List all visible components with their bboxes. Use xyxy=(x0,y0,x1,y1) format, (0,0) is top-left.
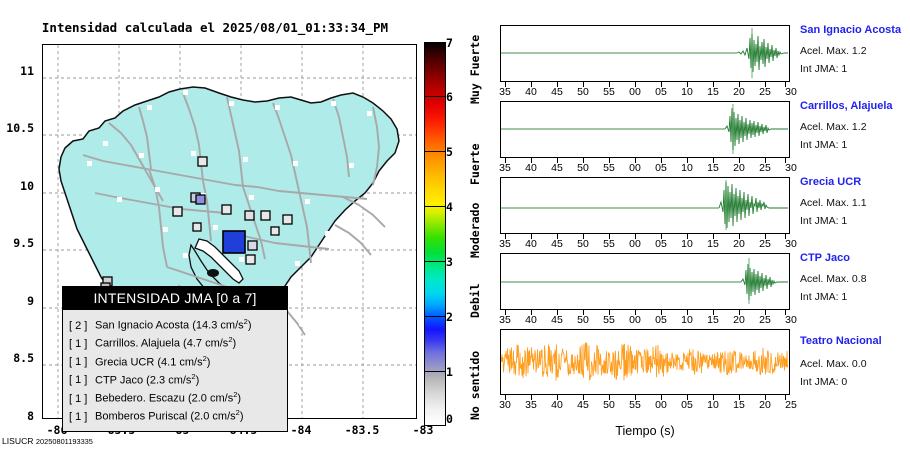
legend-unit: cm/s xyxy=(168,374,191,386)
wf-xtick: 30 xyxy=(492,399,518,411)
station-name: Grecia UCR xyxy=(800,176,861,188)
legend-count: [ 1 ] xyxy=(69,337,95,352)
station-name: CTP Jaco xyxy=(800,252,850,264)
wf-xtick: 40 xyxy=(518,238,544,250)
wf-xtick: 20 xyxy=(752,399,778,411)
wf-xtick: 55 xyxy=(596,162,622,174)
wf-xtick: 30 xyxy=(778,86,804,98)
wf-xtick: 05 xyxy=(648,314,674,326)
legend-value: 4.1 xyxy=(161,356,176,368)
station-name: Carrillos, Alajuela xyxy=(800,100,893,112)
waveform-panel-carrillos-alajuela[interactable] xyxy=(500,101,790,158)
wf-xtick: 55 xyxy=(596,238,622,250)
legend-unit: cm/s xyxy=(220,320,243,332)
legend-count: [ 1 ] xyxy=(69,410,95,425)
wf-xtick: 50 xyxy=(570,162,596,174)
wf-xtick: 10 xyxy=(674,86,700,98)
wf-xtick: 40 xyxy=(518,314,544,326)
colorbar-tickmark xyxy=(424,371,446,372)
waveform-trace xyxy=(501,102,788,156)
wf-xtick: 35 xyxy=(492,86,518,98)
wf-xtick: 10 xyxy=(700,399,726,411)
legend-station: Bebedero. Escazu xyxy=(95,393,185,405)
wf-xtick: 05 xyxy=(648,86,674,98)
wf-xtick: 35 xyxy=(492,162,518,174)
waveform-axis-5: 30 35 40 45 50 55 00 05 10 15 20 25 xyxy=(500,395,790,413)
legend-row: [ 1 ]CTP Jaco (2.3 cm/s2) xyxy=(69,370,281,388)
wf-xtick: 00 xyxy=(622,314,648,326)
map-ytick: 8 xyxy=(0,409,34,423)
map-ytick: 9.5 xyxy=(0,236,34,250)
wf-xtick: 50 xyxy=(570,314,596,326)
watermark-prefix: LISUCR xyxy=(2,436,36,446)
legend-count: [ 2 ] xyxy=(69,319,95,334)
wf-xtick: 25 xyxy=(752,162,778,174)
waveform-trace xyxy=(501,26,788,80)
wf-xtick: 15 xyxy=(700,162,726,174)
waveform-trace xyxy=(501,330,788,393)
legend-value: 2.0 xyxy=(194,411,209,423)
legend-row: [ 1 ]Bomberos Puriscal (2.0 cm/s2) xyxy=(69,406,281,424)
wf-xtick: 00 xyxy=(648,399,674,411)
colorbar-tickmark xyxy=(424,261,446,262)
colorbar-category: Fuerte xyxy=(468,143,482,185)
station-jma: Int JMA: 1 xyxy=(800,215,847,227)
legend-list: [ 2 ]San Ignacio Acosta (14.3 cm/s2) [ 1… xyxy=(63,310,287,431)
intensity-colorbar xyxy=(424,42,446,426)
legend-station: Carrillos. Alajuela xyxy=(95,338,180,350)
wf-xtick: 50 xyxy=(570,86,596,98)
wf-xtick: 20 xyxy=(726,162,752,174)
wf-xtick: 45 xyxy=(570,399,596,411)
station-name: San Ignacio Acosta xyxy=(800,24,901,36)
wf-xtick: 35 xyxy=(518,399,544,411)
station-name: Teatro Nacional xyxy=(800,335,882,347)
station-acc: Acel. Max. 1.2 xyxy=(800,45,867,57)
colorbar-category: Moderado xyxy=(468,203,482,258)
intensity-legend: INTENSIDAD JMA [0 a 7] [ 2 ]San Ignacio … xyxy=(62,286,288,432)
waveform-axis-1: 35 40 45 50 55 00 05 10 15 20 25 30 xyxy=(500,82,790,100)
map-ytick: 10.5 xyxy=(0,121,34,135)
wf-xtick: 35 xyxy=(492,238,518,250)
page-title: Intensidad calculada el 2025/08/01_01:33… xyxy=(0,20,430,35)
colorbar-tickmark xyxy=(424,151,446,152)
legend-station: San Ignacio Acosta xyxy=(95,320,189,332)
legend-station: Grecia UCR xyxy=(95,356,154,368)
colorbar-tickmark xyxy=(424,96,446,97)
wf-xtick: 00 xyxy=(622,86,648,98)
wf-xtick: 30 xyxy=(778,314,804,326)
map-ytick: 11 xyxy=(0,64,34,78)
wf-xtick: 05 xyxy=(648,238,674,250)
wf-xtick: 55 xyxy=(622,399,648,411)
wf-xtick: 55 xyxy=(596,86,622,98)
wf-xtick: 55 xyxy=(596,314,622,326)
legend-count: [ 1 ] xyxy=(69,373,95,388)
station-jma: Int JMA: 0 xyxy=(800,376,847,388)
legend-station: Bomberos Puriscal xyxy=(95,411,187,423)
legend-value: 4.7 xyxy=(187,338,202,350)
station-jma: Int JMA: 1 xyxy=(800,63,847,75)
wf-xtick: 15 xyxy=(700,314,726,326)
wf-xtick: 50 xyxy=(570,238,596,250)
waveform-trace xyxy=(501,254,788,308)
legend-count: [ 1 ] xyxy=(69,392,95,407)
legend-unit: cm/s xyxy=(205,338,228,350)
wf-xtick: 05 xyxy=(674,399,700,411)
wf-xtick: 00 xyxy=(622,238,648,250)
wf-xtick: 35 xyxy=(492,314,518,326)
colorbar-category: No sentido xyxy=(468,351,482,420)
wf-xtick: 25 xyxy=(752,314,778,326)
wf-xtick: 25 xyxy=(752,86,778,98)
station-acc: Acel. Max. 1.2 xyxy=(800,121,867,133)
watermark: LISUCR 20250801193335 xyxy=(2,436,93,446)
wf-xtick: 45 xyxy=(544,314,570,326)
waveform-axis-4: 35 40 45 50 55 00 05 10 15 20 25 30 xyxy=(500,310,790,328)
waveform-panel-san-ignacio-acosta[interactable] xyxy=(500,25,790,82)
wf-xtick: 20 xyxy=(726,238,752,250)
legend-row: [ 1 ]Carrillos. Alajuela (4.7 cm/s2) xyxy=(69,333,281,351)
wf-xtick: 15 xyxy=(726,399,752,411)
legend-value: 2.3 xyxy=(150,374,165,386)
legend-count: [ 1 ] xyxy=(69,355,95,370)
map-xtick: -83.5 xyxy=(332,423,392,437)
legend-unit: cm/s xyxy=(210,393,233,405)
x-axis-label: Tiempo (s) xyxy=(500,424,790,438)
wf-xtick: 00 xyxy=(622,162,648,174)
wf-xtick: 10 xyxy=(674,162,700,174)
wf-xtick: 45 xyxy=(544,86,570,98)
station-acc: Acel. Max. 0.0 xyxy=(800,358,867,370)
waveform-trace xyxy=(501,178,788,232)
map-ytick: 8.5 xyxy=(0,351,34,365)
map-ytick: 10 xyxy=(0,179,34,193)
waveform-panel-grecia-ucr[interactable] xyxy=(500,177,790,234)
wf-xtick: 45 xyxy=(544,162,570,174)
waveform-panel-teatro-nacional[interactable] xyxy=(500,329,790,395)
station-acc: Acel. Max. 1.1 xyxy=(800,197,867,209)
wf-xtick: 30 xyxy=(778,162,804,174)
epicenter-marker xyxy=(223,231,245,253)
colorbar-category: Muy Fuerte xyxy=(468,35,482,104)
legend-row: [ 1 ]Grecia UCR (4.1 cm/s2) xyxy=(69,352,281,370)
wf-xtick: 50 xyxy=(596,399,622,411)
wf-xtick: 10 xyxy=(674,238,700,250)
wf-xtick: 20 xyxy=(726,314,752,326)
waveform-axis-3: 35 40 45 50 55 00 05 10 15 20 25 30 xyxy=(500,234,790,252)
wf-xtick: 40 xyxy=(518,86,544,98)
colorbar-category: Debil xyxy=(468,283,482,318)
wf-xtick: 25 xyxy=(752,238,778,250)
station-acc: Acel. Max. 0.8 xyxy=(800,273,867,285)
wf-xtick: 20 xyxy=(726,86,752,98)
wf-xtick: 10 xyxy=(674,314,700,326)
wf-xtick: 25 xyxy=(778,399,804,411)
wf-xtick: 40 xyxy=(518,162,544,174)
wf-xtick: 05 xyxy=(648,162,674,174)
legend-title: INTENSIDAD JMA [0 a 7] xyxy=(63,287,287,310)
wf-xtick: 15 xyxy=(700,86,726,98)
wf-xtick: 15 xyxy=(700,238,726,250)
station-jma: Int JMA: 1 xyxy=(800,139,847,151)
colorbar-tickmark xyxy=(424,316,446,317)
legend-row: [ 2 ]San Ignacio Acosta (14.3 cm/s2) xyxy=(69,315,281,333)
wf-xtick: 45 xyxy=(544,238,570,250)
map-ytick: 9 xyxy=(0,294,34,308)
legend-unit: cm/s xyxy=(212,411,235,423)
waveform-axis-2: 35 40 45 50 55 00 05 10 15 20 25 30 xyxy=(500,158,790,176)
wf-xtick: 30 xyxy=(778,238,804,250)
watermark-code: 20250801193335 xyxy=(36,437,93,446)
legend-unit: cm/s xyxy=(179,356,202,368)
waveform-panel-ctp-jaco[interactable] xyxy=(500,253,790,310)
colorbar-tickmark xyxy=(424,206,446,207)
legend-value: 14.3 xyxy=(196,320,217,332)
legend-station: CTP Jaco xyxy=(95,374,143,386)
legend-value: 2.0 xyxy=(192,393,207,405)
legend-row: [ 1 ]Bebedero. Escazu (2.0 cm/s2) xyxy=(69,388,281,406)
wf-xtick: 40 xyxy=(544,399,570,411)
station-jma: Int JMA: 1 xyxy=(800,291,847,303)
